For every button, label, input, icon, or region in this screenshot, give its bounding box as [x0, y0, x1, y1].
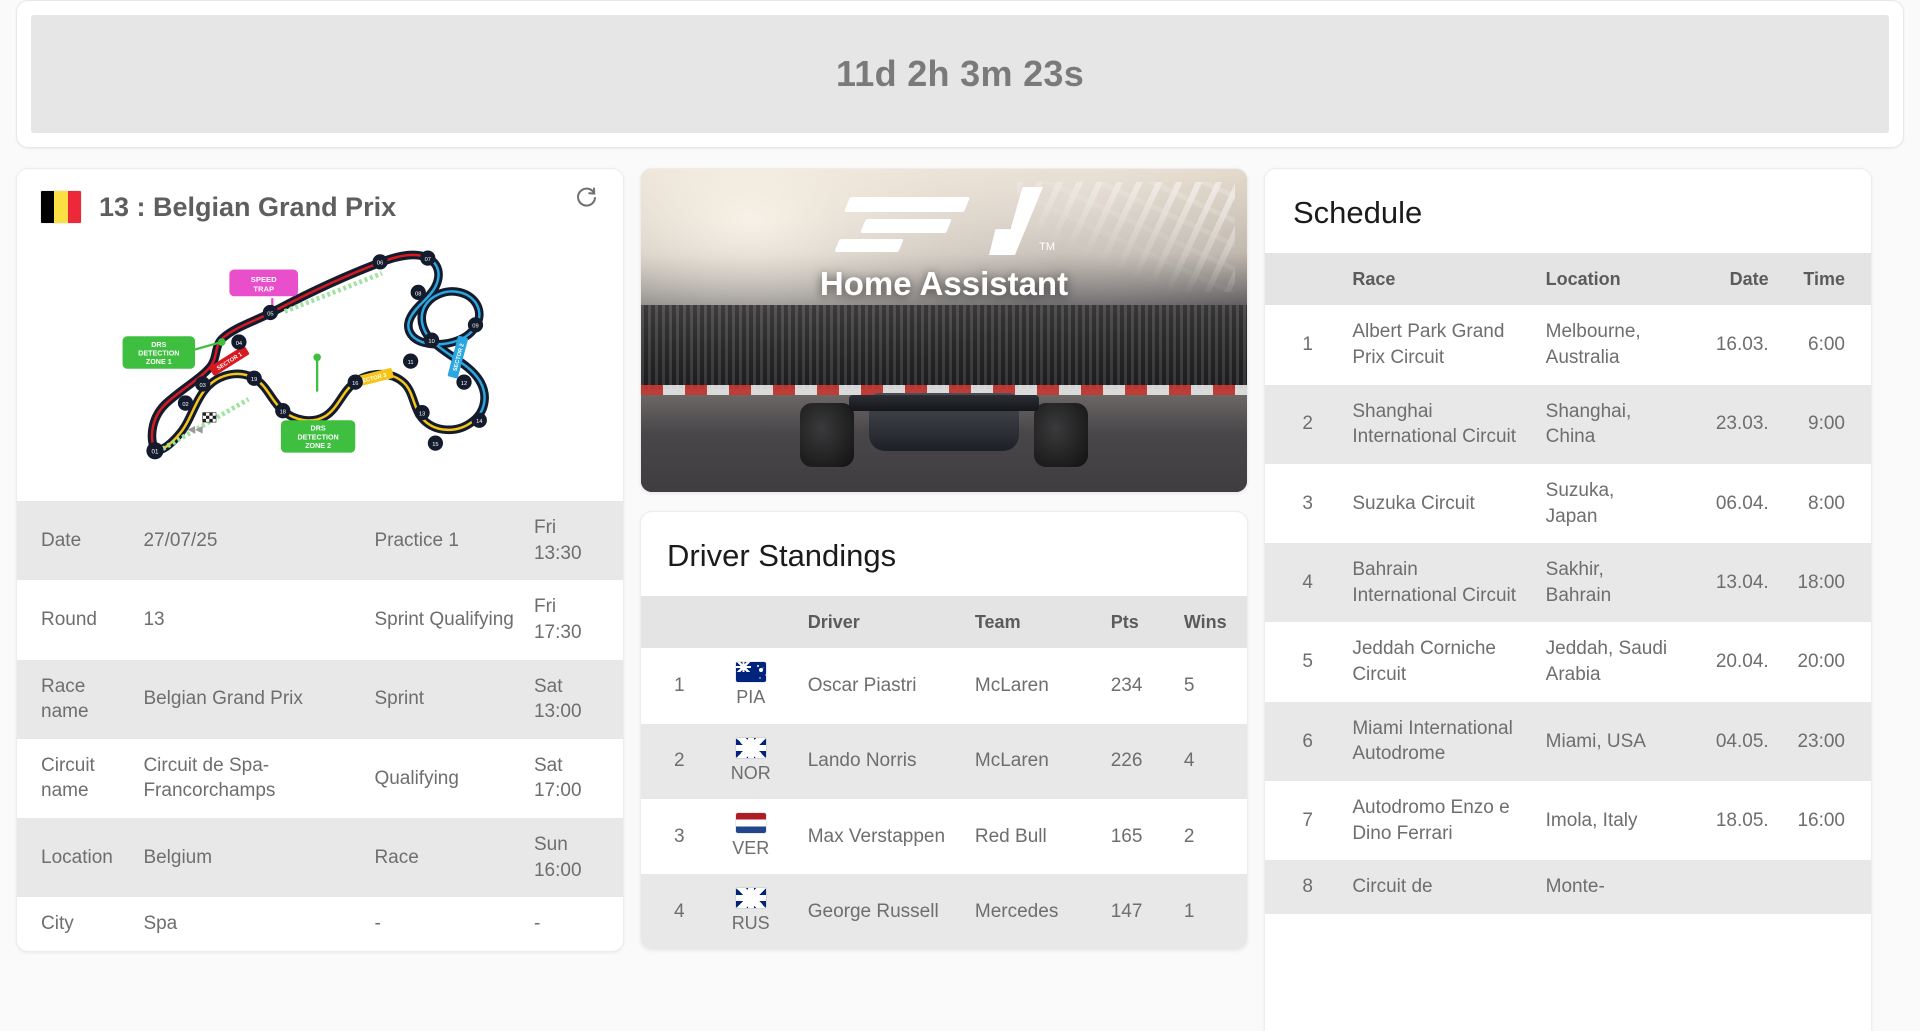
column-header: [641, 596, 704, 648]
driver-wins: 5: [1174, 648, 1247, 723]
table-row: 4RUSGeorge RussellMercedes1471: [641, 874, 1247, 949]
schedule-time: 18:00: [1779, 543, 1871, 622]
schedule-race: Autodromo Enzo e Dino Ferrari: [1342, 781, 1535, 860]
driver-name: Max Verstappen: [798, 799, 965, 874]
column-header: Time: [1779, 253, 1871, 305]
schedule-race: Jeddah Corniche Circuit: [1342, 622, 1535, 701]
schedule-race: Miami International Autodrome: [1342, 702, 1535, 781]
dashboard-root: 11d 2h 3m 23s 13 : Belgian Grand Prix: [0, 0, 1920, 1031]
race-detail-value: Spa: [133, 897, 364, 951]
nl-flag-icon: [736, 813, 766, 833]
race-card-header: 13 : Belgian Grand Prix: [17, 169, 623, 233]
schedule-location: Jeddah, Saudi Arabia: [1536, 622, 1680, 701]
svg-text:08: 08: [415, 291, 421, 297]
svg-text:18: 18: [280, 410, 286, 416]
schedule-date: 23.03.: [1679, 385, 1778, 464]
svg-text:07: 07: [425, 257, 431, 263]
driver-nationality: RUS: [704, 874, 798, 949]
svg-text:SPEED: SPEED: [251, 275, 277, 284]
svg-text:02: 02: [182, 402, 188, 408]
driver-standings-card: Driver Standings DriverTeamPtsWins 1PIAO…: [640, 511, 1248, 950]
driver-points: 234: [1101, 648, 1174, 723]
dashboard-columns: 13 : Belgian Grand Prix: [16, 168, 1904, 1031]
session-name: Qualifying: [364, 739, 524, 818]
svg-text:DETECTION: DETECTION: [138, 349, 179, 357]
driver-code: NOR: [731, 761, 771, 785]
svg-text:04: 04: [236, 341, 243, 347]
driver-wins: 1: [1174, 874, 1247, 949]
schedule-date: 18.05.: [1679, 781, 1778, 860]
table-row: 2Shanghai International CircuitShanghai,…: [1265, 385, 1871, 464]
svg-text:16: 16: [352, 381, 358, 387]
table-row: LocationBelgiumRaceSun16:00: [17, 818, 623, 897]
svg-text:DRS: DRS: [151, 341, 166, 349]
schedule-round: 7: [1265, 781, 1342, 860]
table-row: 6Miami International AutodromeMiami, USA…: [1265, 702, 1871, 781]
session-name: -: [364, 897, 524, 951]
schedule-time: 16:00: [1779, 781, 1871, 860]
schedule-date: 13.04.: [1679, 543, 1778, 622]
f1-car-illustration: [794, 343, 1094, 473]
race-detail-label: Location: [17, 818, 133, 897]
session-datetime: Fri17:30: [524, 580, 623, 659]
session-datetime: Sat17:00: [524, 739, 623, 818]
driver-position: 1: [641, 648, 704, 723]
schedule-time: 9:00: [1779, 385, 1871, 464]
schedule-round: 2: [1265, 385, 1342, 464]
column-header: Date: [1679, 253, 1778, 305]
driver-team: McLaren: [965, 648, 1101, 723]
table-row: 1Albert Park Grand Prix CircuitMelbourne…: [1265, 305, 1871, 384]
session-name: Practice 1: [364, 501, 524, 580]
column-header: [1265, 253, 1342, 305]
schedule-location: Shanghai, China: [1536, 385, 1680, 464]
schedule-round: 4: [1265, 543, 1342, 622]
schedule-title: Schedule: [1265, 169, 1871, 253]
svg-text:05: 05: [267, 311, 273, 317]
hero-logo-block: TM Home Assistant: [641, 185, 1247, 303]
countdown-card: 11d 2h 3m 23s: [16, 0, 1904, 148]
race-detail-value: 27/07/25: [133, 501, 364, 580]
gb-flag-icon: [736, 888, 766, 908]
svg-text:DETECTION: DETECTION: [297, 433, 338, 441]
schedule-date: 04.05.: [1679, 702, 1778, 781]
driver-code: VER: [732, 836, 769, 860]
svg-text:19: 19: [251, 377, 257, 383]
middle-column: TM Home Assistant Driver Standings Drive…: [640, 168, 1248, 950]
driver-name: George Russell: [798, 874, 965, 949]
table-row: CitySpa--: [17, 897, 623, 951]
table-row: 8Circuit deMonte-: [1265, 860, 1871, 914]
race-card: 13 : Belgian Grand Prix: [16, 168, 624, 952]
table-row: 7Autodromo Enzo e Dino FerrariImola, Ita…: [1265, 781, 1871, 860]
session-name: Sprint: [364, 660, 524, 739]
left-column: 13 : Belgian Grand Prix: [16, 168, 624, 952]
driver-position: 4: [641, 874, 704, 949]
schedule-time: [1779, 860, 1871, 914]
race-details-body: Date27/07/25Practice 1Fri13:30Round13Spr…: [17, 501, 623, 951]
driver-points: 147: [1101, 874, 1174, 949]
race-detail-label: City: [17, 897, 133, 951]
column-header: Driver: [798, 596, 965, 648]
driver-standings-table: DriverTeamPtsWins 1PIAOscar PiastriMcLar…: [641, 596, 1247, 949]
au-flag-icon: [736, 662, 766, 682]
schedule-time: 8:00: [1779, 464, 1871, 543]
race-detail-label: Race name: [17, 660, 133, 739]
right-column: Schedule RaceLocationDateTime 1Albert Pa…: [1264, 168, 1872, 1031]
session-datetime: -: [524, 897, 623, 951]
svg-text:01: 01: [152, 449, 159, 456]
svg-text:06: 06: [377, 261, 383, 267]
schedule-race: Suzuka Circuit: [1342, 464, 1535, 543]
driver-name: Lando Norris: [798, 724, 965, 799]
hero-subtitle: Home Assistant: [820, 265, 1068, 303]
schedule-time: 6:00: [1779, 305, 1871, 384]
schedule-race: Circuit de: [1342, 860, 1535, 914]
driver-wins: 4: [1174, 724, 1247, 799]
svg-text:ZONE 2: ZONE 2: [305, 442, 331, 450]
countdown-text: 11d 2h 3m 23s: [836, 53, 1084, 95]
svg-text:13: 13: [419, 411, 425, 417]
drs-zone-2-label: DRS DETECTION ZONE 2: [281, 420, 355, 452]
race-detail-value: Circuit de Spa-Francorchamps: [133, 739, 364, 818]
schedule-table: RaceLocationDateTime 1Albert Park Grand …: [1265, 253, 1871, 914]
svg-text:12: 12: [461, 381, 467, 387]
table-header-row: DriverTeamPtsWins: [641, 596, 1247, 648]
race-detail-value: Belgian Grand Prix: [133, 660, 364, 739]
svg-text:14: 14: [476, 419, 483, 425]
svg-text:11: 11: [408, 360, 414, 366]
countdown-panel: 11d 2h 3m 23s: [31, 15, 1889, 133]
driver-nationality: NOR: [704, 724, 798, 799]
schedule-round: 8: [1265, 860, 1342, 914]
race-detail-value: 13: [133, 580, 364, 659]
driver-points: 226: [1101, 724, 1174, 799]
table-header-row: RaceLocationDateTime: [1265, 253, 1871, 305]
session-name: Sprint Qualifying: [364, 580, 524, 659]
column-header: Location: [1536, 253, 1680, 305]
table-row: Round13Sprint QualifyingFri17:30: [17, 580, 623, 659]
driver-wins: 2: [1174, 799, 1247, 874]
schedule-time: 20:00: [1779, 622, 1871, 701]
race-details-table: Date27/07/25Practice 1Fri13:30Round13Spr…: [17, 501, 623, 951]
schedule-location: Melbourne, Australia: [1536, 305, 1680, 384]
svg-text:TRAP: TRAP: [253, 284, 274, 293]
table-row: 3Suzuka CircuitSuzuka, Japan06.04.8:00: [1265, 464, 1871, 543]
driver-points: 165: [1101, 799, 1174, 874]
circuit-map-svg: SPEED TRAP DRS DETECTION ZONE 1: [47, 239, 593, 487]
column-header: Race: [1342, 253, 1535, 305]
table-row: 1PIAOscar PiastriMcLaren2345: [641, 648, 1247, 723]
driver-position: 2: [641, 724, 704, 799]
schedule-race: Shanghai International Circuit: [1342, 385, 1535, 464]
table-row: 5Jeddah Corniche CircuitJeddah, Saudi Ar…: [1265, 622, 1871, 701]
belgium-flag-icon: [41, 191, 81, 223]
driver-nationality: VER: [704, 799, 798, 874]
svg-text:15: 15: [432, 442, 438, 448]
column-header: [704, 596, 798, 648]
race-title: 13 : Belgian Grand Prix: [99, 192, 396, 223]
schedule-date: 16.03.: [1679, 305, 1778, 384]
driver-standings-head: DriverTeamPtsWins: [641, 596, 1247, 648]
drs-zone-1-label: DRS DETECTION ZONE 1: [123, 336, 195, 368]
table-row: 4Bahrain International CircuitSakhir, Ba…: [1265, 543, 1871, 622]
circuit-map: SPEED TRAP DRS DETECTION ZONE 1: [17, 233, 623, 501]
column-header: Wins: [1174, 596, 1247, 648]
refresh-icon[interactable]: [571, 183, 601, 213]
schedule-date: [1679, 860, 1778, 914]
svg-text:03: 03: [199, 383, 205, 389]
schedule-round: 1: [1265, 305, 1342, 384]
schedule-date: 06.04.: [1679, 464, 1778, 543]
schedule-location: Imola, Italy: [1536, 781, 1680, 860]
race-detail-label: Circuit name: [17, 739, 133, 818]
schedule-location: Monte-: [1536, 860, 1680, 914]
hero-banner: TM Home Assistant: [640, 168, 1248, 493]
svg-text:DRS: DRS: [311, 425, 326, 433]
driver-standings-title: Driver Standings: [641, 512, 1247, 596]
session-datetime: Sun16:00: [524, 818, 623, 897]
driver-team: Red Bull: [965, 799, 1101, 874]
table-row: 3VERMax VerstappenRed Bull1652: [641, 799, 1247, 874]
schedule-round: 6: [1265, 702, 1342, 781]
table-row: Circuit nameCircuit de Spa-Francorchamps…: [17, 739, 623, 818]
f1-logo-icon: TM: [829, 185, 1059, 255]
start-finish-marker: [203, 413, 216, 423]
table-row: Date27/07/25Practice 1Fri13:30: [17, 501, 623, 580]
schedule-card: Schedule RaceLocationDateTime 1Albert Pa…: [1264, 168, 1872, 1031]
race-detail-label: Round: [17, 580, 133, 659]
driver-name: Oscar Piastri: [798, 648, 965, 723]
driver-nationality: PIA: [704, 648, 798, 723]
driver-team: McLaren: [965, 724, 1101, 799]
schedule-time: 23:00: [1779, 702, 1871, 781]
schedule-location: Miami, USA: [1536, 702, 1680, 781]
gb-flag-icon: [736, 738, 766, 758]
driver-position: 3: [641, 799, 704, 874]
svg-text:09: 09: [472, 324, 478, 330]
session-datetime: Fri13:30: [524, 501, 623, 580]
svg-text:10: 10: [428, 339, 434, 345]
session-name: Race: [364, 818, 524, 897]
schedule-date: 20.04.: [1679, 622, 1778, 701]
schedule-round: 3: [1265, 464, 1342, 543]
table-row: Race nameBelgian Grand PrixSprintSat13:0…: [17, 660, 623, 739]
schedule-location: Sakhir, Bahrain: [1536, 543, 1680, 622]
schedule-round: 5: [1265, 622, 1342, 701]
race-detail-value: Belgium: [133, 818, 364, 897]
driver-standings-body: 1PIAOscar PiastriMcLaren23452NORLando No…: [641, 648, 1247, 949]
table-row: 2NORLando NorrisMcLaren2264: [641, 724, 1247, 799]
driver-code: RUS: [732, 911, 770, 935]
driver-code: PIA: [736, 685, 765, 709]
column-header: Team: [965, 596, 1101, 648]
session-datetime: Sat13:00: [524, 660, 623, 739]
race-detail-label: Date: [17, 501, 133, 580]
schedule-race: Bahrain International Circuit: [1342, 543, 1535, 622]
schedule-head: RaceLocationDateTime: [1265, 253, 1871, 305]
schedule-location: Suzuka, Japan: [1536, 464, 1680, 543]
svg-text:ZONE 1: ZONE 1: [146, 358, 172, 366]
driver-team: Mercedes: [965, 874, 1101, 949]
schedule-race: Albert Park Grand Prix Circuit: [1342, 305, 1535, 384]
schedule-body: 1Albert Park Grand Prix CircuitMelbourne…: [1265, 305, 1871, 914]
column-header: Pts: [1101, 596, 1174, 648]
speed-trap-label: SPEED TRAP: [229, 270, 298, 297]
